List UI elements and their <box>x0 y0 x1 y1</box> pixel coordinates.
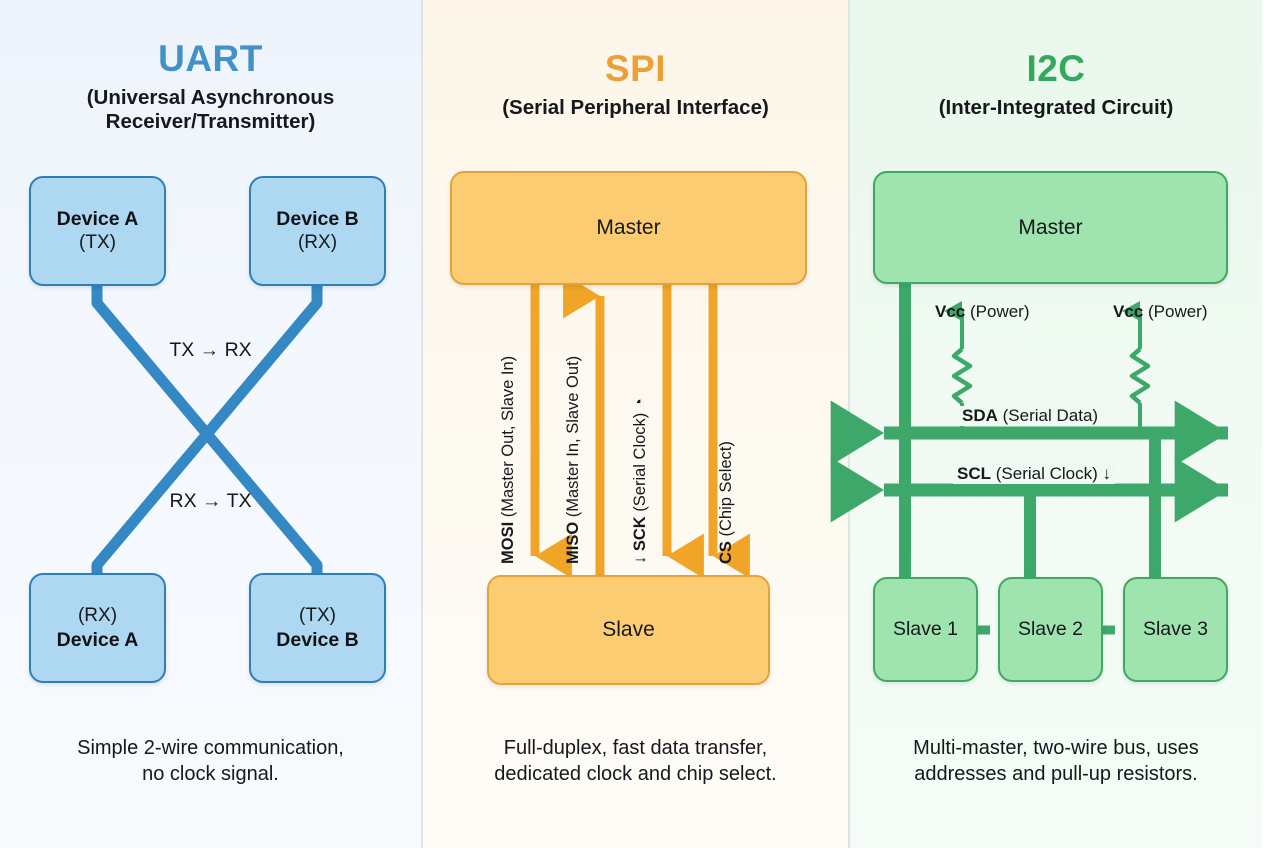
spi-master-label: Master <box>596 216 660 240</box>
i2c-bus-label-scl: SCL (Serial Clock) ↓ <box>953 464 1115 484</box>
i2c-caption: Multi-master, two-wire bus, uses address… <box>850 735 1262 788</box>
uart-device-a-top[interactable]: Device A (TX) <box>29 176 166 286</box>
i2c-slave-3-label: Slave 3 <box>1143 618 1208 641</box>
uart-wire-rx-tx <box>97 285 317 583</box>
i2c-master-label: Master <box>1018 216 1082 240</box>
i2c-vcc-label-2: Vcc (Power) <box>1113 302 1208 322</box>
spi-signal-label-mosi: MOSI (Master Out, Slave In) <box>499 356 518 564</box>
uart-device-b-bottom[interactable]: (TX) Device B <box>249 573 386 683</box>
uart-device-a-bottom-port: (RX) <box>78 604 117 628</box>
uart-device-a-top-name: Device A <box>57 207 139 231</box>
down-arrow-icon: ↓ <box>1098 464 1111 483</box>
uart-link-label-rx-tx: RX → TX <box>0 490 421 513</box>
i2c-vcc-label-1: Vcc (Power) <box>935 302 1030 322</box>
uart-device-b-bottom-name: Device B <box>276 628 358 652</box>
protocol-comparison-diagram: UART (Universal Asynchronous Receiver/Tr… <box>0 0 1264 848</box>
uart-wire-layer <box>0 0 421 848</box>
spi-caption: Full-duplex, fast data transfer, dedicat… <box>423 735 848 788</box>
uart-device-b-bottom-port: (TX) <box>299 604 336 628</box>
uart-device-b-top-name: Device B <box>276 207 358 231</box>
uart-device-b-top-port: (RX) <box>298 231 337 255</box>
i2c-slave-2-label: Slave 2 <box>1018 618 1083 641</box>
clock-icon: ◔ <box>631 398 649 413</box>
i2c-master-node[interactable]: Master <box>873 171 1228 284</box>
spi-master-node[interactable]: Master <box>450 171 807 285</box>
uart-link-label-tx-rx: TX → RX <box>0 339 421 362</box>
uart-column: UART (Universal Asynchronous Receiver/Tr… <box>0 0 421 848</box>
uart-device-a-bottom[interactable]: (RX) Device A <box>29 573 166 683</box>
i2c-pullup-resistor-2 <box>1132 349 1148 403</box>
i2c-slave-3-node[interactable]: Slave 3 <box>1123 577 1228 682</box>
spi-slave-node[interactable]: Slave <box>487 575 770 685</box>
uart-caption: Simple 2-wire communication, no clock si… <box>0 735 421 788</box>
i2c-slave-1-label: Slave 1 <box>893 618 958 641</box>
spi-slave-label: Slave <box>602 618 655 642</box>
spi-signal-label-miso: MISO (Master In, Slave Out) <box>564 356 583 564</box>
i2c-column: I2C (Inter-Integrated Circuit) <box>850 0 1262 848</box>
spi-column: SPI (Serial Peripheral Interface) Mast <box>421 0 850 848</box>
uart-device-b-top[interactable]: Device B (RX) <box>249 176 386 286</box>
uart-device-a-bottom-name: Device A <box>57 628 139 652</box>
spi-signal-label-sck: ↓ SCK (Serial Clock) ◔ <box>631 398 650 564</box>
spi-signal-label-cs: CS (Chip Select) <box>717 441 736 564</box>
i2c-slave-1-node[interactable]: Slave 1 <box>873 577 978 682</box>
i2c-pullup-resistor-1 <box>954 349 970 403</box>
i2c-bus-label-sda: SDA (Serial Data) <box>958 406 1102 426</box>
uart-device-a-top-port: (TX) <box>79 231 116 255</box>
i2c-slave-2-node[interactable]: Slave 2 <box>998 577 1103 682</box>
